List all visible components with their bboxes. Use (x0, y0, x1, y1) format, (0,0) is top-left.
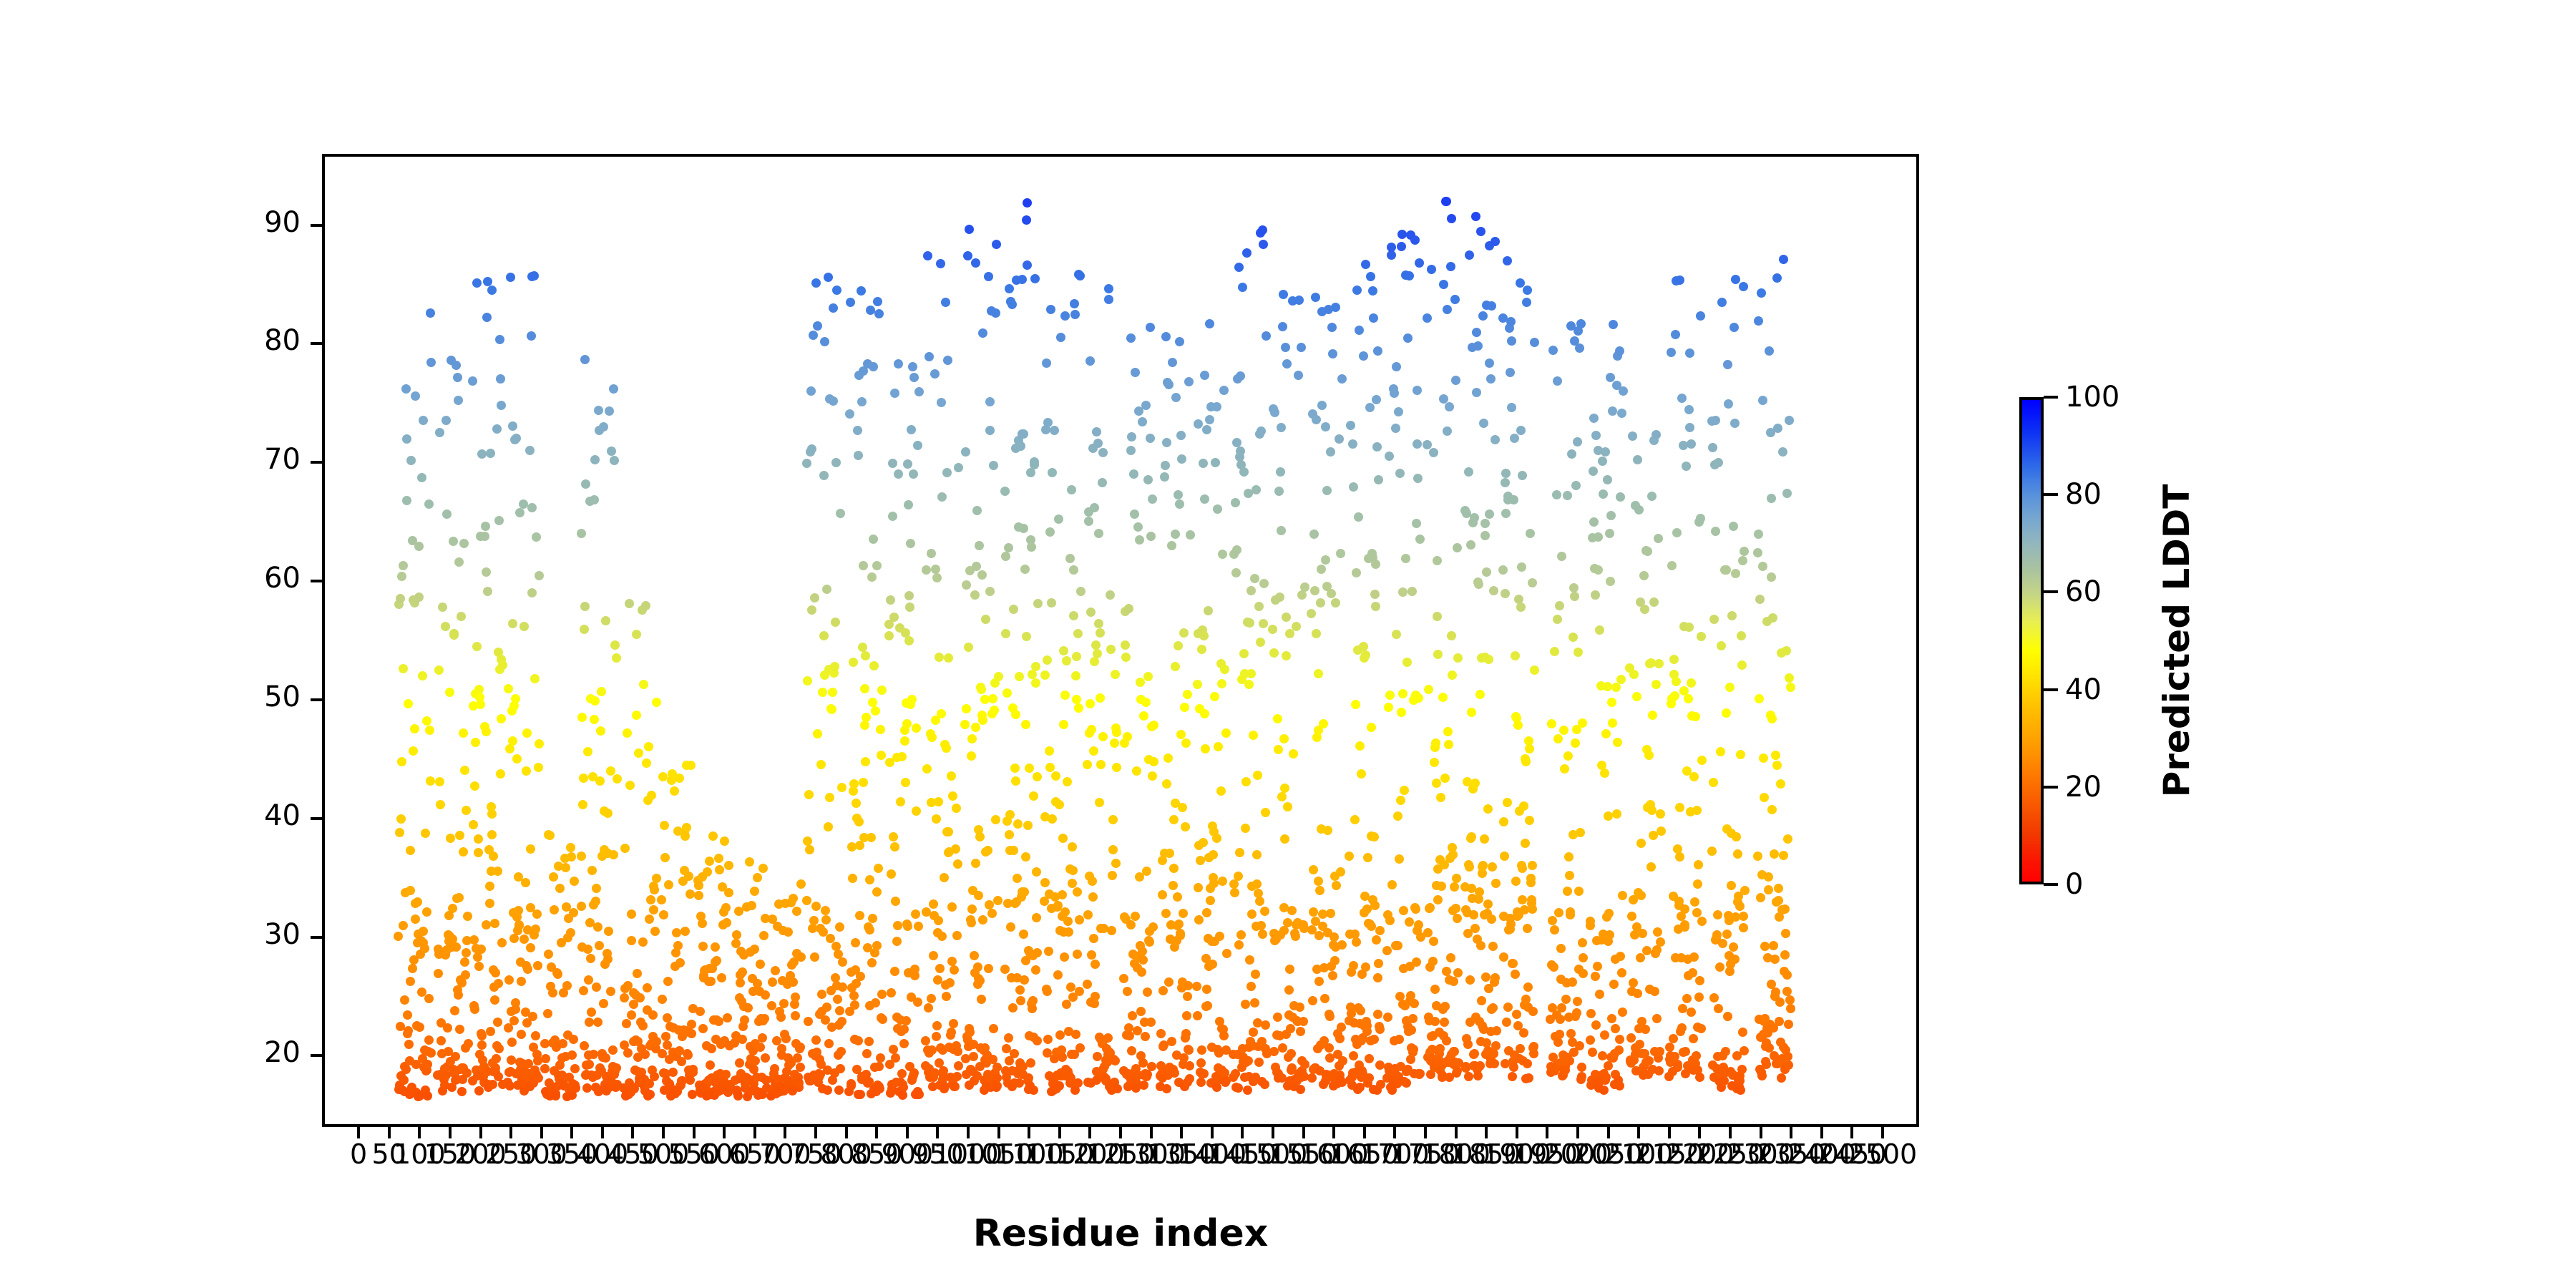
x-axis-ticks (322, 1127, 1919, 1138)
scatter-point (620, 844, 630, 853)
scatter-point (1075, 987, 1084, 996)
scatter-point (1480, 519, 1490, 528)
scatter-point (1723, 360, 1732, 369)
scatter-point (809, 331, 818, 340)
scatter-point (961, 447, 970, 457)
scatter-point (1202, 985, 1211, 994)
scatter-point (1371, 560, 1380, 569)
scatter-point (816, 760, 826, 769)
scatter-point (1085, 699, 1095, 708)
scatter-point (1616, 492, 1625, 502)
scatter-point (1692, 806, 1702, 815)
scatter-point (1132, 766, 1141, 776)
scatter-point (1291, 932, 1300, 941)
scatter-point (1357, 769, 1366, 779)
scatter-point (436, 800, 445, 809)
scatter-point (1316, 598, 1325, 608)
scatter-point (1675, 803, 1684, 812)
scatter-point (1425, 903, 1435, 912)
scatter-point (1740, 547, 1749, 556)
scatter-point (1072, 652, 1081, 661)
scatter-point (1657, 826, 1666, 836)
scatter-point (1727, 611, 1737, 620)
scatter-point (1203, 1001, 1212, 1010)
scatter-point (1757, 1071, 1767, 1080)
x-axis-tick (631, 1127, 634, 1138)
scatter-point (1714, 458, 1723, 467)
scatter-point (1502, 1018, 1511, 1027)
x-axis-tick (1516, 1127, 1518, 1138)
scatter-point (923, 251, 932, 260)
scatter-point (853, 426, 862, 435)
scatter-point (1385, 452, 1394, 461)
scatter-point (1656, 937, 1665, 947)
scatter-point (1281, 343, 1290, 352)
scatter-point (1619, 386, 1628, 396)
scatter-point (1243, 1085, 1252, 1095)
scatter-point (1687, 678, 1696, 688)
scatter-point (1327, 323, 1337, 332)
x-axis-tick (875, 1127, 878, 1138)
scatter-point (1684, 623, 1694, 632)
scatter-point (580, 602, 590, 611)
scatter-point (1400, 786, 1409, 795)
scatter-point (899, 1039, 909, 1048)
scatter-point (1697, 632, 1706, 641)
scatter-point (1019, 930, 1028, 939)
scatter-point (1415, 1069, 1425, 1078)
scatter-point (1196, 1058, 1206, 1068)
figure-canvas: 2030405060708090 05010015020025030035040… (0, 0, 2576, 1288)
scatter-point (459, 539, 469, 548)
scatter-point (761, 990, 770, 1000)
scatter-point (793, 1053, 802, 1063)
scatter-point (1511, 970, 1520, 979)
scatter-point (849, 991, 859, 1000)
scatter-point (457, 1087, 467, 1096)
scatter-point (661, 1032, 670, 1041)
scatter-point (1568, 633, 1578, 642)
scatter-point (715, 865, 724, 874)
scatter-point (1600, 769, 1609, 778)
scatter-point (519, 499, 528, 509)
scatter-point (824, 822, 833, 831)
x-axis-tick (1729, 1127, 1732, 1138)
scatter-point (449, 630, 459, 640)
scatter-point (422, 716, 431, 726)
x-axis-tick (1302, 1127, 1305, 1138)
scatter-point (1392, 362, 1401, 371)
scatter-point (1330, 932, 1339, 942)
scatter-point (1730, 419, 1740, 428)
scatter-point (1278, 1043, 1287, 1053)
scatter-point (1045, 746, 1054, 756)
scatter-point (1755, 694, 1764, 703)
scatter-point (985, 397, 995, 406)
scatter-point (1695, 976, 1704, 985)
scatter-point (855, 841, 864, 850)
scatter-point (1201, 744, 1210, 753)
scatter-point (1578, 938, 1587, 947)
scatter-point (962, 580, 971, 590)
scatter-point (418, 671, 427, 680)
scatter-point (594, 406, 603, 415)
scatter-point (770, 1064, 779, 1073)
x-axis-tick (1790, 1127, 1792, 1138)
scatter-point (511, 1005, 520, 1014)
scatter-point (1086, 608, 1096, 617)
scatter-point (1033, 1036, 1042, 1045)
scatter-point (854, 1036, 863, 1045)
scatter-point (404, 1026, 413, 1035)
scatter-point (558, 1039, 567, 1048)
scatter-point (712, 956, 721, 965)
scatter-point (1711, 527, 1720, 536)
scatter-point (1179, 909, 1188, 918)
scatter-point (977, 685, 986, 694)
scatter-point (509, 1016, 519, 1025)
scatter-point (627, 909, 636, 919)
scatter-point (1199, 459, 1208, 468)
scatter-point (857, 286, 866, 296)
scatter-point (1467, 708, 1476, 717)
scatter-point (525, 446, 535, 455)
scatter-point (1075, 915, 1084, 924)
scatter-point (1717, 298, 1727, 307)
scatter-point (650, 1072, 659, 1081)
scatter-point (1180, 703, 1189, 712)
scatter-point (1487, 914, 1496, 924)
scatter-point (750, 945, 759, 954)
scatter-point (771, 966, 780, 975)
scatter-point (1043, 987, 1052, 996)
scatter-point (577, 852, 586, 861)
scatter-point (1085, 356, 1095, 366)
scatter-point (1320, 994, 1330, 1003)
scatter-point (1411, 904, 1420, 914)
scatter-point (1161, 909, 1171, 918)
scatter-point (847, 1081, 856, 1091)
scatter-point (1365, 403, 1375, 412)
scatter-point (1204, 606, 1213, 615)
scatter-point (1186, 530, 1195, 540)
scatter-point (1335, 434, 1344, 444)
scatter-point (1486, 374, 1496, 384)
scatter-point (1498, 565, 1508, 575)
scatter-point (1319, 719, 1328, 728)
scatter-point (1723, 1012, 1732, 1021)
scatter-point (584, 975, 593, 985)
scatter-point (817, 990, 826, 999)
scatter-point (632, 630, 641, 639)
scatter-point (991, 815, 1000, 824)
scatter-point (992, 240, 1001, 249)
scatter-point (486, 449, 495, 458)
scatter-point (889, 832, 898, 841)
scatter-point (978, 328, 987, 338)
scatter-point (1727, 881, 1736, 890)
scatter-point (1236, 447, 1245, 456)
x-axis-tick (1393, 1127, 1396, 1138)
scatter-point (1284, 985, 1294, 995)
scatter-point (837, 783, 847, 792)
x-axis-tick (1820, 1127, 1823, 1138)
scatter-point (1598, 1051, 1607, 1060)
scatter-point (1641, 1025, 1650, 1034)
scatter-point (1211, 458, 1220, 467)
scatter-point (1523, 982, 1533, 992)
scatter-point (989, 1024, 998, 1033)
scatter-point (579, 986, 588, 995)
scatter-point (901, 778, 910, 787)
scatter-point (983, 846, 992, 855)
scatter-point (804, 790, 814, 799)
scatter-point (1365, 1054, 1374, 1063)
scatter-point (760, 1014, 769, 1023)
x-axis-tick (570, 1127, 573, 1138)
scatter-point (1040, 878, 1050, 887)
scatter-point (1210, 692, 1219, 701)
scatter-point (1162, 1084, 1171, 1093)
scatter-point (1043, 418, 1053, 427)
scatter-point (414, 592, 424, 602)
scatter-point (758, 864, 768, 873)
scatter-point (940, 873, 949, 882)
scatter-point (1685, 423, 1694, 432)
scatter-point (1786, 1004, 1795, 1013)
scatter-point (521, 878, 530, 887)
scatter-point (687, 1029, 696, 1038)
scatter-point (474, 962, 484, 971)
scatter-point (1029, 1085, 1038, 1095)
scatter-point (1387, 880, 1397, 889)
scatter-point (1369, 313, 1378, 323)
scatter-point (441, 622, 450, 631)
scatter-point (805, 845, 814, 854)
scatter-point (1737, 631, 1746, 640)
scatter-point (1765, 346, 1774, 356)
scatter-point (1737, 660, 1747, 670)
scatter-point (1591, 431, 1601, 440)
y-axis-tick (311, 936, 322, 939)
scatter-point (1093, 649, 1102, 658)
scatter-point (1032, 867, 1041, 877)
scatter-point (947, 957, 957, 966)
scatter-point (455, 1025, 464, 1034)
x-axis-tick (784, 1127, 786, 1138)
scatter-point (1273, 714, 1282, 723)
scatter-point (1025, 763, 1034, 773)
scatter-point (1073, 950, 1082, 959)
scatter-point (1069, 565, 1078, 575)
scatter-point (851, 938, 860, 947)
scatter-point (1739, 923, 1748, 932)
scatter-point (860, 684, 869, 693)
scatter-point (1778, 447, 1787, 457)
scatter-point (891, 1053, 900, 1063)
scatter-point (1439, 280, 1448, 289)
scatter-point (1026, 1058, 1035, 1068)
scatter-point (707, 1044, 716, 1053)
scatter-point (954, 463, 963, 472)
scatter-point (586, 954, 595, 963)
scatter-point (1516, 602, 1526, 612)
scatter-point (508, 619, 517, 628)
scatter-point (992, 1063, 1002, 1072)
scatter-point (944, 653, 953, 663)
scatter-point (660, 821, 669, 830)
scatter-point (1579, 969, 1588, 978)
scatter-point (1208, 960, 1217, 969)
scatter-point (627, 936, 636, 945)
scatter-point (984, 272, 993, 281)
scatter-point (1222, 949, 1231, 958)
scatter-point (802, 896, 811, 905)
scatter-point (1212, 834, 1221, 843)
scatter-point (687, 1020, 696, 1029)
scatter-point (1430, 758, 1439, 767)
scatter-point (1431, 738, 1440, 748)
scatter-point (717, 973, 726, 982)
scatter-point (454, 990, 463, 1000)
scatter-point (1652, 430, 1661, 439)
scatter-point (1451, 904, 1460, 913)
scatter-point (1148, 494, 1157, 504)
scatter-point (1309, 907, 1318, 917)
scatter-point (1390, 389, 1399, 398)
scatter-point (1261, 1020, 1270, 1030)
scatter-point (680, 927, 690, 936)
x-axis-tick (1424, 1127, 1427, 1138)
scatter-point (1525, 744, 1534, 753)
scatter-point (1292, 622, 1301, 631)
scatter-point (884, 631, 894, 640)
scatter-point (1287, 906, 1297, 915)
scatter-point (399, 561, 408, 570)
scatter-point (532, 909, 542, 919)
scatter-point (1013, 819, 1023, 829)
scatter-point (831, 458, 841, 467)
scatter-point (1407, 1025, 1416, 1035)
scatter-point (1609, 320, 1618, 329)
scatter-point (610, 456, 619, 465)
scatter-point (642, 758, 651, 768)
scatter-point (1522, 298, 1531, 307)
scatter-point (577, 902, 586, 911)
scatter-point (460, 766, 469, 775)
scatter-point (1167, 541, 1176, 550)
scatter-point (1473, 1071, 1483, 1080)
scatter-point (1246, 669, 1256, 678)
scatter-point (423, 1091, 432, 1101)
scatter-point (821, 906, 830, 915)
scatter-point (963, 251, 972, 260)
x-axis-title: Residue index (322, 1212, 1919, 1255)
scatter-point (1218, 877, 1227, 886)
scatter-point (1352, 568, 1361, 577)
scatter-point (977, 995, 986, 1004)
scatter-point (1470, 1049, 1479, 1058)
scatter-point (738, 1035, 747, 1044)
scatter-point (1063, 917, 1073, 926)
scatter-point (875, 1084, 884, 1093)
scatter-point (1185, 1061, 1194, 1070)
scatter-point (399, 1075, 409, 1085)
scatter-point (477, 1040, 487, 1050)
scatter-point (1629, 978, 1638, 987)
scatter-point (414, 542, 424, 551)
scatter-point (1717, 641, 1726, 650)
scatter-point (902, 1016, 911, 1025)
scatter-point (1309, 530, 1319, 539)
scatter-point (865, 925, 874, 935)
scatter-point (967, 918, 976, 927)
scatter-point (1785, 995, 1795, 1005)
scatter-point (929, 899, 938, 909)
scatter-point (507, 1038, 517, 1047)
scatter-point (424, 1035, 434, 1045)
x-axis-tick (1760, 1127, 1762, 1138)
scatter-point (747, 901, 756, 910)
scatter-point (985, 426, 995, 435)
scatter-point (1065, 554, 1075, 563)
scatter-point (1001, 629, 1010, 638)
scatter-point (1087, 950, 1096, 960)
scatter-point (1613, 738, 1622, 747)
scatter-point (913, 997, 922, 1007)
scatter-point (595, 776, 605, 786)
scatter-point (721, 1070, 731, 1079)
scatter-point (1652, 1014, 1662, 1023)
scatter-point (1470, 779, 1480, 788)
scatter-point (1249, 1028, 1258, 1037)
scatter-point (1043, 1035, 1053, 1044)
scatter-point (1289, 749, 1298, 758)
scatter-point (590, 715, 599, 724)
scatter-point (1137, 967, 1146, 977)
scatter-point (803, 836, 812, 846)
scatter-point (1367, 723, 1376, 732)
scatter-point (1528, 861, 1537, 870)
scatter-point (577, 713, 587, 722)
scatter-point (426, 776, 435, 786)
scatter-point (646, 895, 655, 904)
scatter-point (461, 970, 470, 980)
scatter-point (1330, 956, 1340, 965)
scatter-point (1403, 333, 1413, 343)
scatter-point (936, 259, 945, 268)
scatter-point (1276, 467, 1285, 477)
scatter-point (397, 757, 406, 766)
scatter-point (1274, 745, 1283, 754)
scatter-point (864, 1037, 874, 1046)
scatter-point (1123, 987, 1132, 996)
scatter-point (1274, 487, 1284, 496)
scatter-point (474, 834, 483, 844)
scatter-point (1555, 1030, 1564, 1039)
scatter-point (1075, 271, 1085, 280)
scatter-point (633, 969, 642, 978)
scatter-point (1573, 437, 1582, 447)
scatter-point (945, 978, 955, 987)
scatter-point (609, 850, 618, 859)
scatter-point (1383, 1013, 1392, 1022)
scatter-point (1413, 439, 1422, 449)
scatter-point (1053, 970, 1063, 980)
scatter-point (527, 331, 536, 341)
scatter-point (1312, 629, 1321, 638)
scatter-point (1554, 908, 1563, 917)
